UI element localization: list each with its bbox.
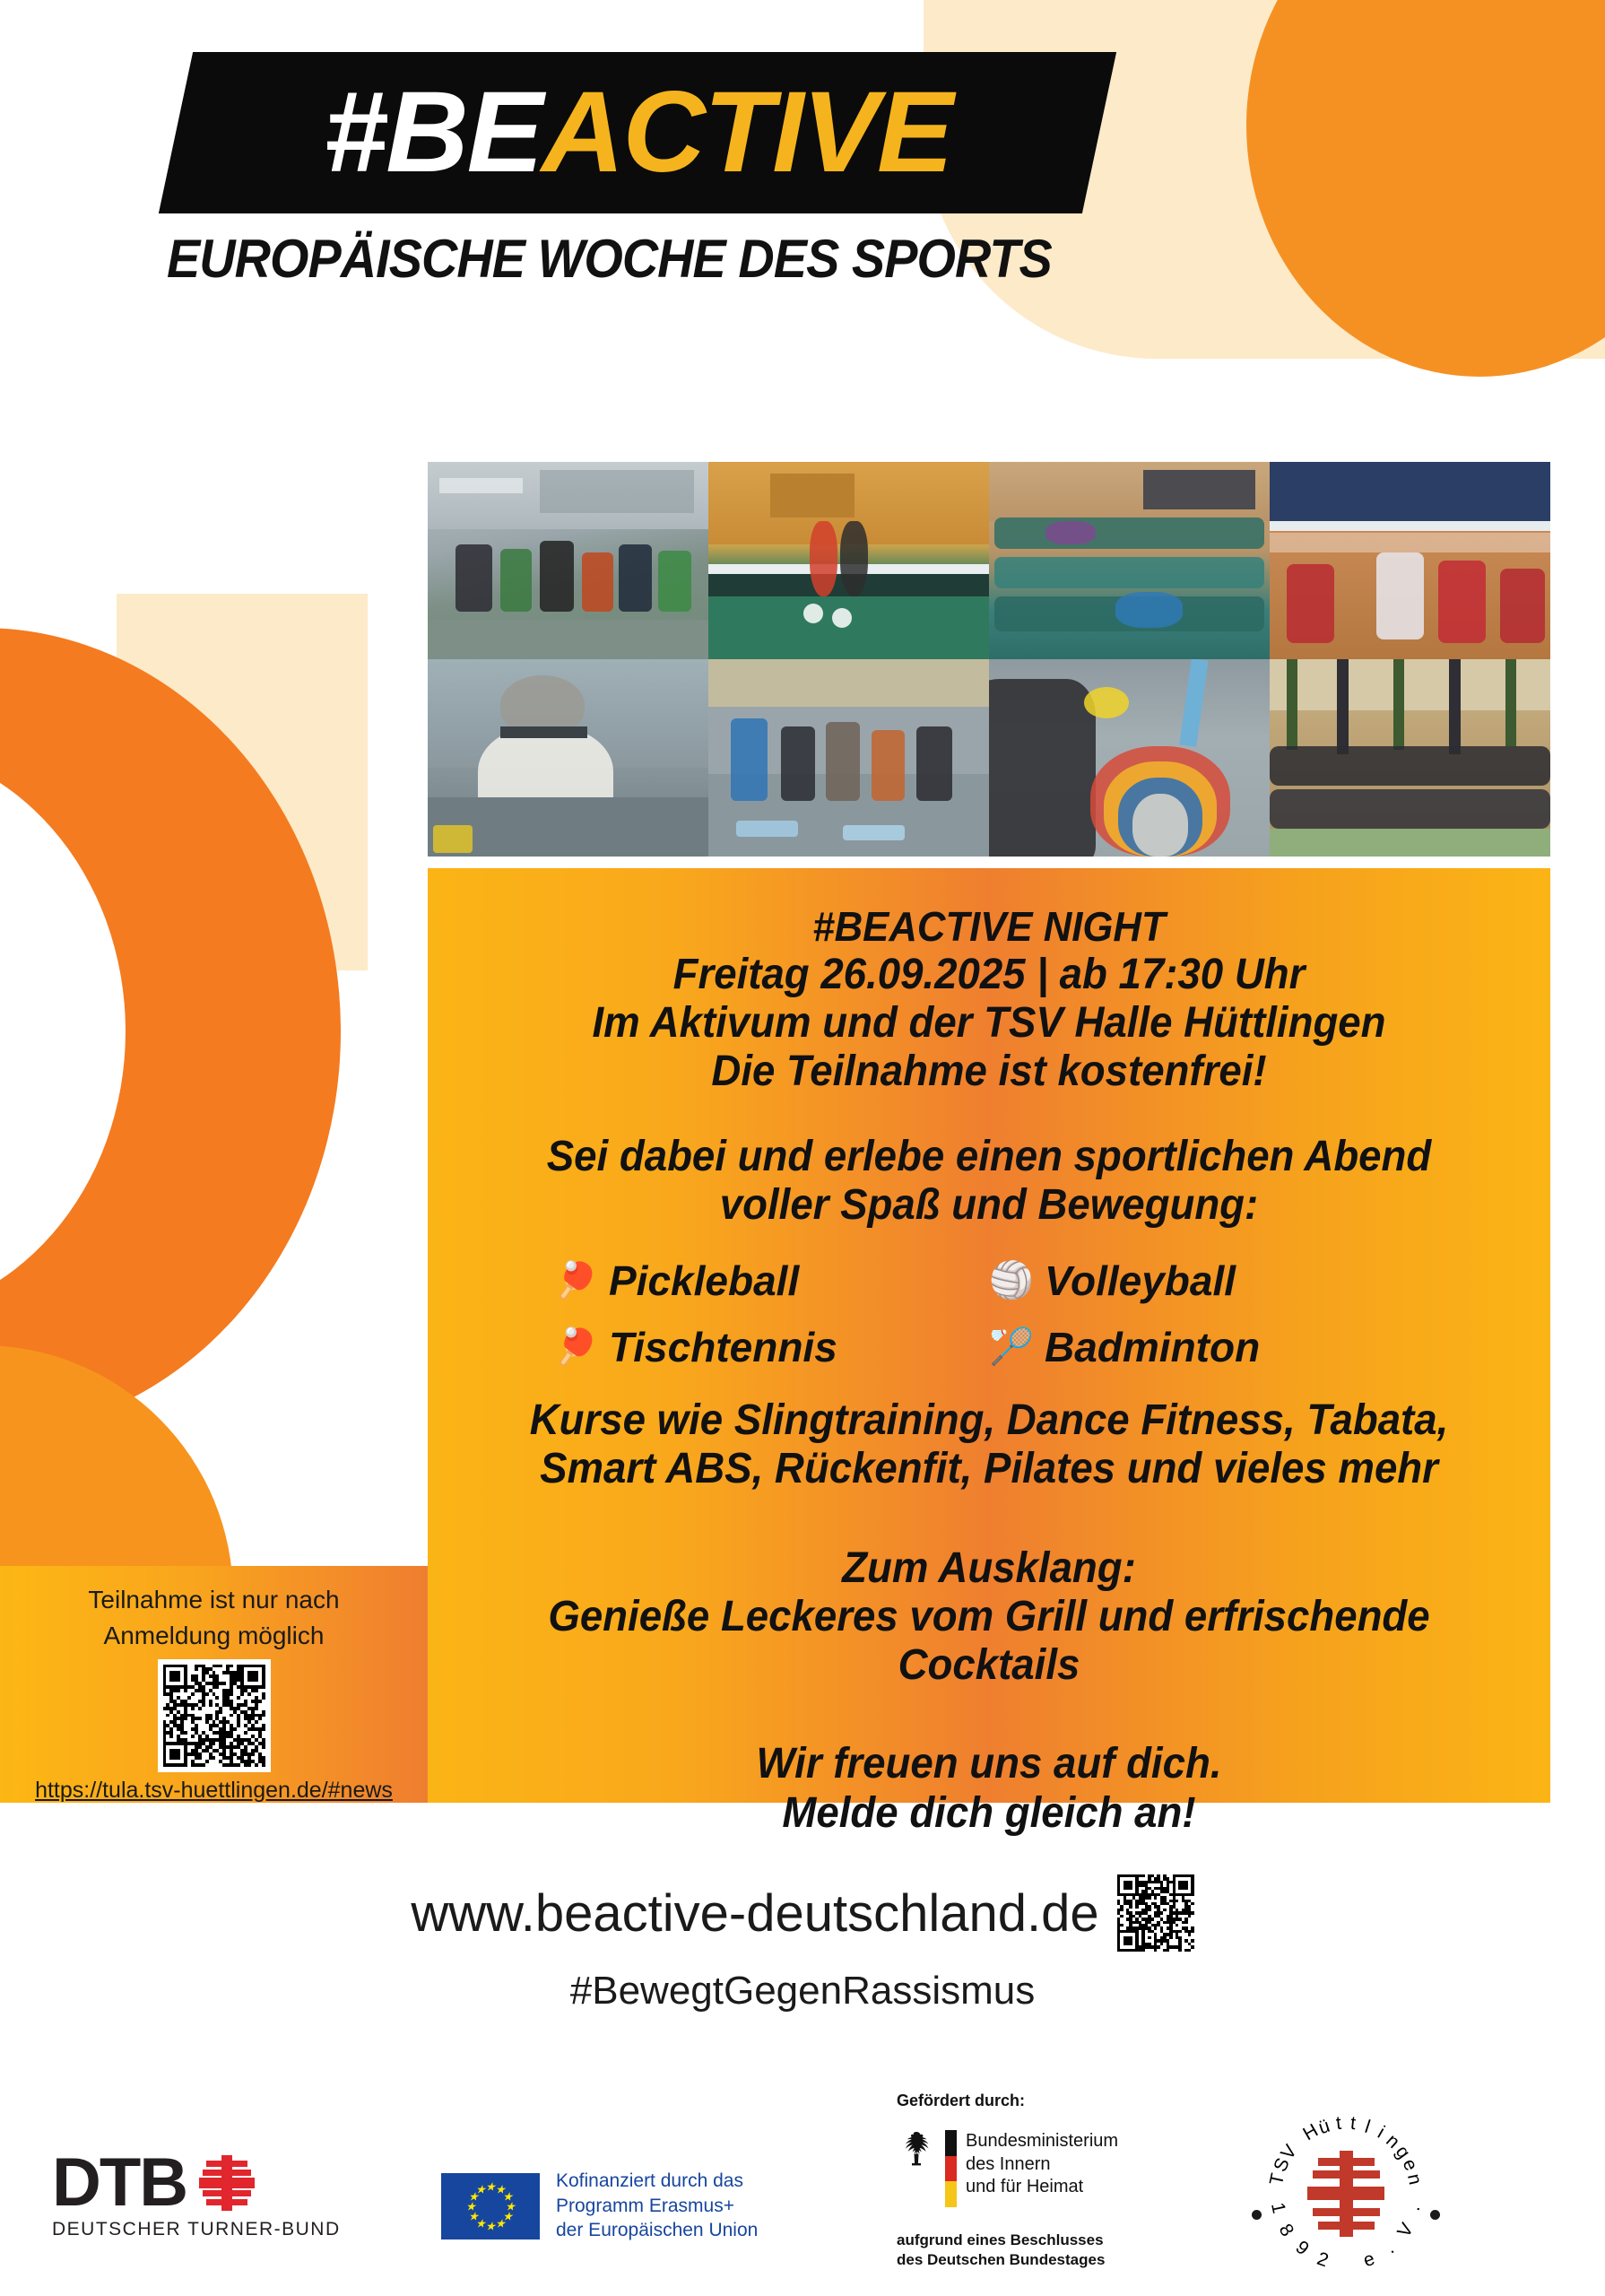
event-datetime: Freitag 26.09.2025 | ab 17:30 Uhr: [481, 951, 1497, 999]
outro-title: Zum Ausklang:: [481, 1544, 1497, 1593]
cta-line-1: Wir freuen uns auf dich.: [481, 1740, 1497, 1788]
registration-card: Teilnahme ist nur nach Anmeldung möglich…: [0, 1566, 428, 1803]
group-fitness-photo: [428, 462, 708, 659]
beactive-qr-code[interactable]: [1117, 1874, 1194, 1952]
event-price: Die Teilnahme ist kostenfrei!: [481, 1048, 1497, 1096]
german-flag-bar-icon: [945, 2130, 957, 2207]
decoration-left-white-circle: [0, 744, 126, 1318]
sport-item-volleyball: 🏐 Volleyball: [989, 1257, 1425, 1305]
logo-subtitle: EUROPÄISCHE WOCHE DES SPORTS: [167, 228, 1034, 290]
turnerkreuz-icon: [199, 2155, 255, 2211]
logo-active-text: ACTIVE: [542, 68, 951, 196]
decoration-top-right-orange-circle: [1246, 0, 1605, 377]
eu-flag-icon: ★★★★★★★★★★★★: [441, 2173, 540, 2239]
beactive-website-row: www.beactive-deutschland.de: [0, 1874, 1605, 1952]
sport-label-pickleball: Pickleball: [609, 1257, 799, 1305]
registration-qr-code[interactable]: [158, 1659, 271, 1772]
sponsor-footer: DTB DEUTSCHER TURNER-BUND ★★★★★★★★★★★: [0, 2063, 1605, 2296]
yoga-class-photo: [708, 659, 989, 857]
event-venue: Im Aktivum und der TSV Halle Hüttlingen: [481, 999, 1497, 1048]
bmi-name-line-3: und für Heimat: [966, 2176, 1118, 2199]
dtb-acronym: DTB: [52, 2152, 187, 2213]
tsv-dot-right: [1430, 2210, 1440, 2220]
event-intro-line-2: voller Spaß und Bewegung:: [481, 1181, 1497, 1230]
decoration-left-orange-circle: [0, 628, 341, 1435]
registration-url-link[interactable]: https://tula.tsv-huettlingen.de/#news: [35, 1778, 393, 1804]
floor-workout-photo: [989, 462, 1270, 659]
decoration-left-cream-square: [117, 594, 368, 970]
bundesadler-icon: [897, 2130, 936, 2168]
poster-root: #BEACTIVE EUROPÄISCHE WOCHE DES SPORTS: [0, 0, 1605, 2296]
bmi-foot-line-1: aufgrund eines Beschlusses: [897, 2231, 1118, 2250]
turnerkreuz-icon: [1307, 2151, 1384, 2237]
registration-line-1: Teilnahme ist nur nach: [0, 1582, 428, 1618]
badminton-racket-icon: 🏸: [989, 1329, 1030, 1365]
volleyball-match-photo: [1270, 462, 1550, 659]
eu-text-line-3: der Europäischen Union: [556, 2218, 758, 2243]
tsv-dot-left: [1252, 2210, 1262, 2220]
logo-text: #BEACTIVE: [324, 75, 951, 190]
table-tennis-photo: [708, 462, 989, 659]
registration-line-2: Anmeldung möglich: [0, 1618, 428, 1654]
badminton-shuttlecock-photo: [428, 659, 708, 857]
courses-line-1: Kurse wie Slingtraining, Dance Fitness, …: [481, 1396, 1497, 1445]
sport-label-volleyball: Volleyball: [1045, 1257, 1236, 1305]
courses-line-2: Smart ABS, Rückenfit, Pilates und vieles…: [481, 1445, 1497, 1493]
dtb-full-name: DEUTSCHER TURNER-BUND: [52, 2219, 341, 2240]
sports-list: 🏓 Pickleball 🏐 Volleyball 🏓 Tischtennis …: [553, 1257, 1425, 1371]
bmi-name-line-2: des Innern: [966, 2153, 1118, 2177]
cta-line-2: Melde dich gleich an!: [481, 1789, 1497, 1838]
table-tennis-paddle-icon: 🏓: [553, 1329, 594, 1365]
bmi-name-line-1: Bundesministerium: [966, 2130, 1118, 2153]
sport-item-pickleball: 🏓 Pickleball: [553, 1257, 989, 1305]
tsv-huettlingen-logo: TSV Hüttlingen1892 e.V.: [1243, 2104, 1449, 2283]
campaign-hashtag: #BewegtGegenRassismus: [0, 1969, 1605, 2013]
sport-item-tischtennis: 🏓 Tischtennis: [553, 1323, 989, 1371]
event-intro-line-1: Sei dabei und erlebe einen sportlichen A…: [481, 1133, 1497, 1181]
bmi-bundestag-note: aufgrund eines Beschlusses des Deutschen…: [897, 2231, 1118, 2270]
sport-label-tischtennis: Tischtennis: [609, 1323, 837, 1371]
outro-line-1: Genieße Leckeres vom Grill und erfrische…: [481, 1593, 1497, 1641]
bmi-ministry-name: Bundesministerium des Innern und für Hei…: [966, 2130, 1118, 2199]
beactive-website-url[interactable]: www.beactive-deutschland.de: [411, 1883, 1098, 1944]
eu-text-line-2: Programm Erasmus+: [556, 2194, 758, 2219]
bmi-funding-logo: Gefördert durch: Bundesministerium des I…: [897, 2092, 1118, 2270]
dtb-logo: DTB DEUTSCHER TURNER-BUND: [52, 2152, 341, 2240]
eu-text-line-1: Kofinanziert durch das: [556, 2169, 758, 2194]
event-info-panel: #BEACTIVE NIGHT Freitag 26.09.2025 | ab …: [428, 868, 1550, 1803]
logo-hash-text: #BE: [324, 68, 542, 196]
decoration-top-right-orange-block: [1309, 0, 1605, 108]
eu-funding-text: Kofinanziert durch das Programm Erasmus+…: [556, 2169, 758, 2243]
sport-item-badminton: 🏸 Badminton: [989, 1323, 1425, 1371]
event-title: #BEACTIVE NIGHT: [481, 904, 1497, 951]
pickleball-paddle-icon: 🏓: [553, 1263, 594, 1299]
logo-black-bar: #BEACTIVE: [159, 52, 1116, 213]
beactive-logo: #BEACTIVE EUROPÄISCHE WOCHE DES SPORTS: [176, 52, 1099, 290]
sling-training-photo: [1270, 659, 1550, 857]
bmi-funded-by-label: Gefördert durch:: [897, 2092, 1118, 2110]
bmi-foot-line-2: des Deutschen Bundestages: [897, 2250, 1118, 2270]
volleyball-icon: 🏐: [989, 1263, 1030, 1299]
pickleball-paddle-photo: [989, 659, 1270, 857]
photo-collage: [428, 462, 1550, 857]
eu-funding-logo: ★★★★★★★★★★★★ Kofinanziert durch das Prog…: [441, 2169, 758, 2243]
outro-line-2: Cocktails: [481, 1641, 1497, 1690]
sport-label-badminton: Badminton: [1045, 1323, 1260, 1371]
